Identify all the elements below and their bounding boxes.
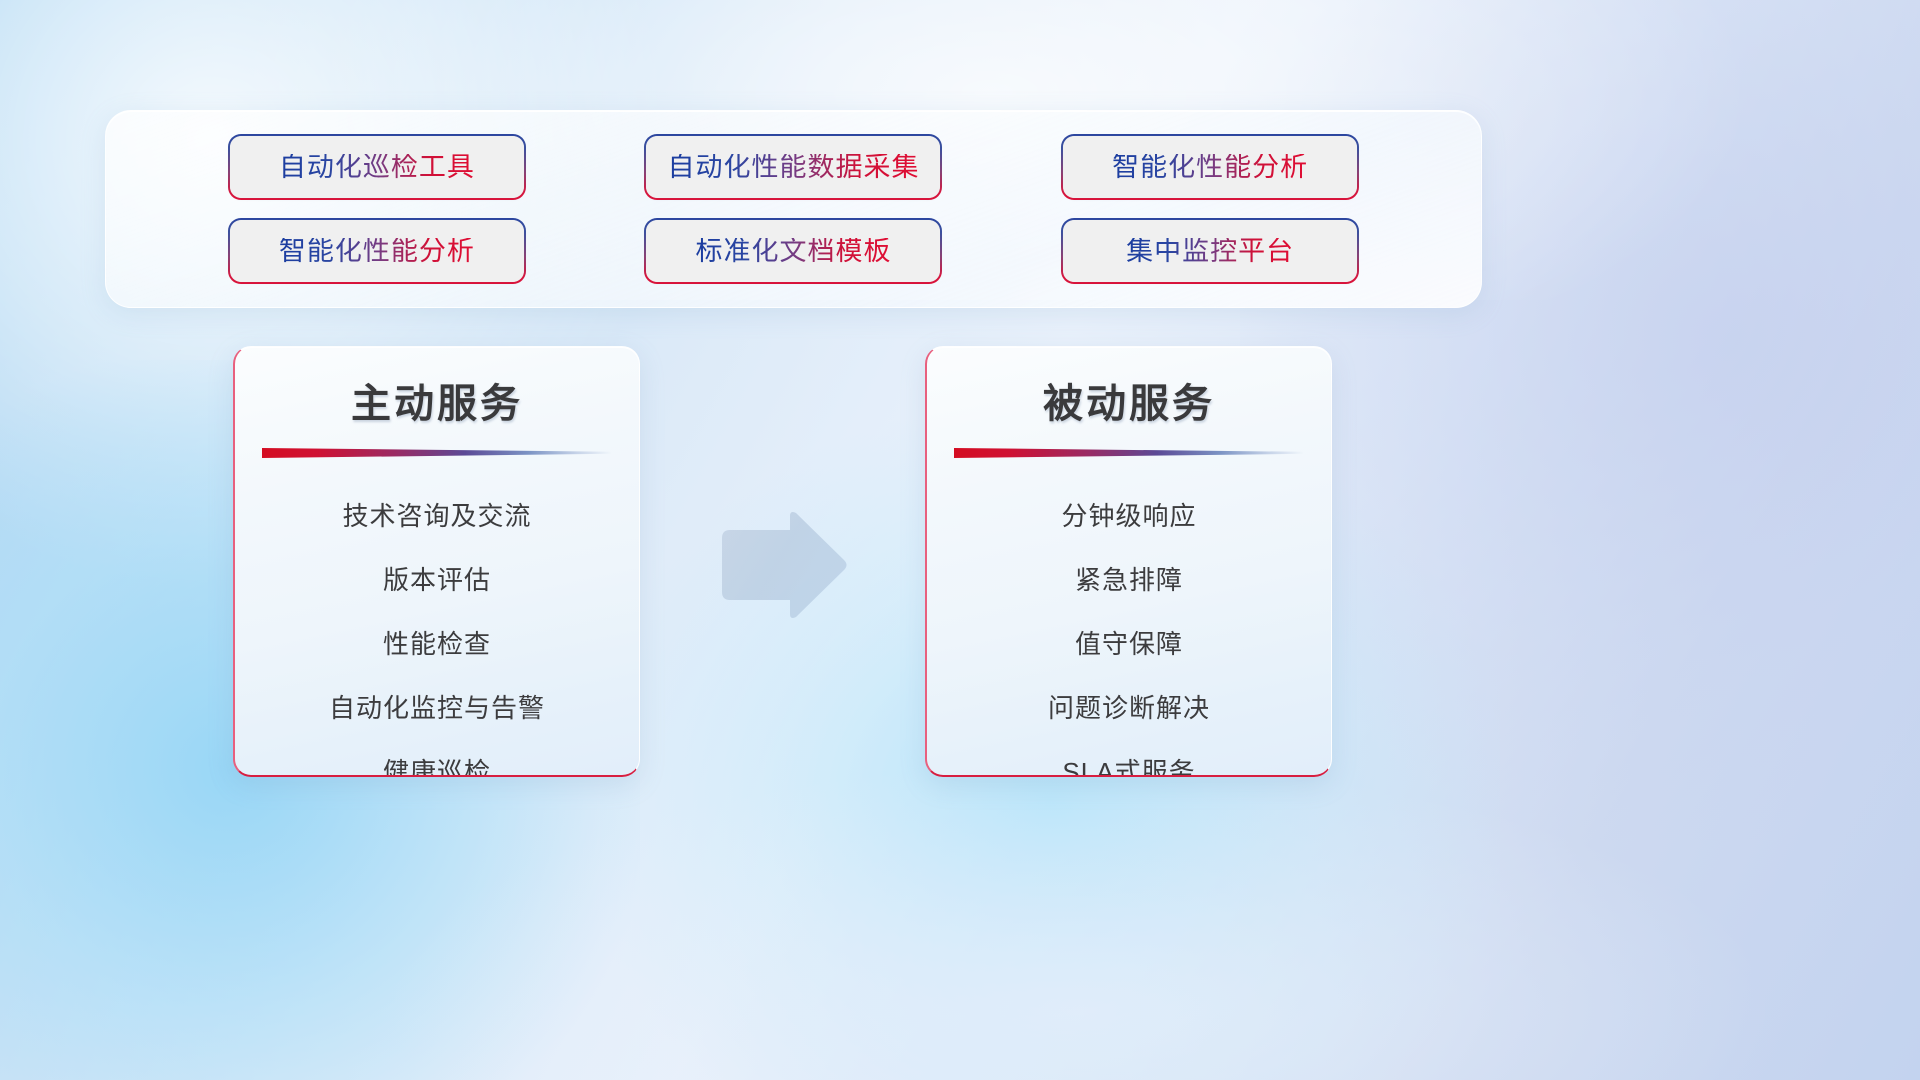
arrow-right-icon [718,510,848,620]
capability-pill-surface: 标准化文档模板 [646,220,940,282]
capability-pill[interactable]: 标准化文档模板 [646,220,940,282]
capability-pill[interactable]: 自动化性能数据采集 [646,136,940,198]
service-list-item: 分钟级响应 [927,494,1331,538]
capability-pill-surface: 自动化性能数据采集 [646,136,940,198]
capability-pill[interactable]: 智能化性能分析 [1063,136,1357,198]
capability-pill-surface: 集中监控平台 [1063,220,1357,282]
service-list-item: 健康巡检 [235,750,639,777]
capability-pill-label: 集中监控平台 [1126,238,1294,265]
card-divider-gradient-bar [262,448,612,458]
service-card-title: 被动服务 [927,371,1331,429]
capability-pill[interactable]: 集中监控平台 [1063,220,1357,282]
service-list-item: SLA式服务 [927,750,1331,777]
capability-pill-label: 自动化巡检工具 [279,154,475,181]
service-item-list: 技术咨询及交流 版本评估 性能检查 自动化监控与告警 健康巡检 [235,494,639,777]
capability-pill-surface: 智能化性能分析 [230,220,524,282]
service-list-item: 问题诊断解决 [927,686,1331,730]
card-divider [954,448,1304,458]
service-item-list: 分钟级响应 紧急排障 值守保障 问题诊断解决 SLA式服务 [927,494,1331,777]
capability-pill-surface: 智能化性能分析 [1063,136,1357,198]
service-list-item: 自动化监控与告警 [235,686,639,730]
capability-pill-surface: 自动化巡检工具 [230,136,524,198]
capability-pill[interactable]: 自动化巡检工具 [230,136,524,198]
capabilities-panel: 自动化巡检工具 自动化性能数据采集 智能化性能分析 智能化性能分析 标准化文档模… [105,110,1482,308]
capability-pill-label: 自动化性能数据采集 [667,154,919,181]
capability-pill[interactable]: 智能化性能分析 [230,220,524,282]
card-divider-gradient-bar [954,448,1304,458]
service-card-passive[interactable]: 被动服务 分钟级响应 紧急排障 值守保障 问题诊断解决 SLA式服务 [925,346,1332,777]
capability-pill-label: 智能化性能分析 [1112,154,1308,181]
background-glow-bottom [380,760,1780,1080]
service-list-item: 性能检查 [235,622,639,666]
capability-pill-grid: 自动化巡检工具 自动化性能数据采集 智能化性能分析 智能化性能分析 标准化文档模… [169,134,1419,284]
card-divider [262,448,612,458]
service-list-item: 版本评估 [235,558,639,602]
service-card-active[interactable]: 主动服务 技术咨询及交流 版本评估 性能检查 自动化监控与告警 健康巡检 [233,346,640,777]
service-list-item: 技术咨询及交流 [235,494,639,538]
service-list-item: 值守保障 [927,622,1331,666]
capability-pill-label: 标准化文档模板 [695,238,891,265]
service-card-title: 主动服务 [235,371,639,429]
service-list-item: 紧急排障 [927,558,1331,602]
capability-pill-label: 智能化性能分析 [279,238,475,265]
